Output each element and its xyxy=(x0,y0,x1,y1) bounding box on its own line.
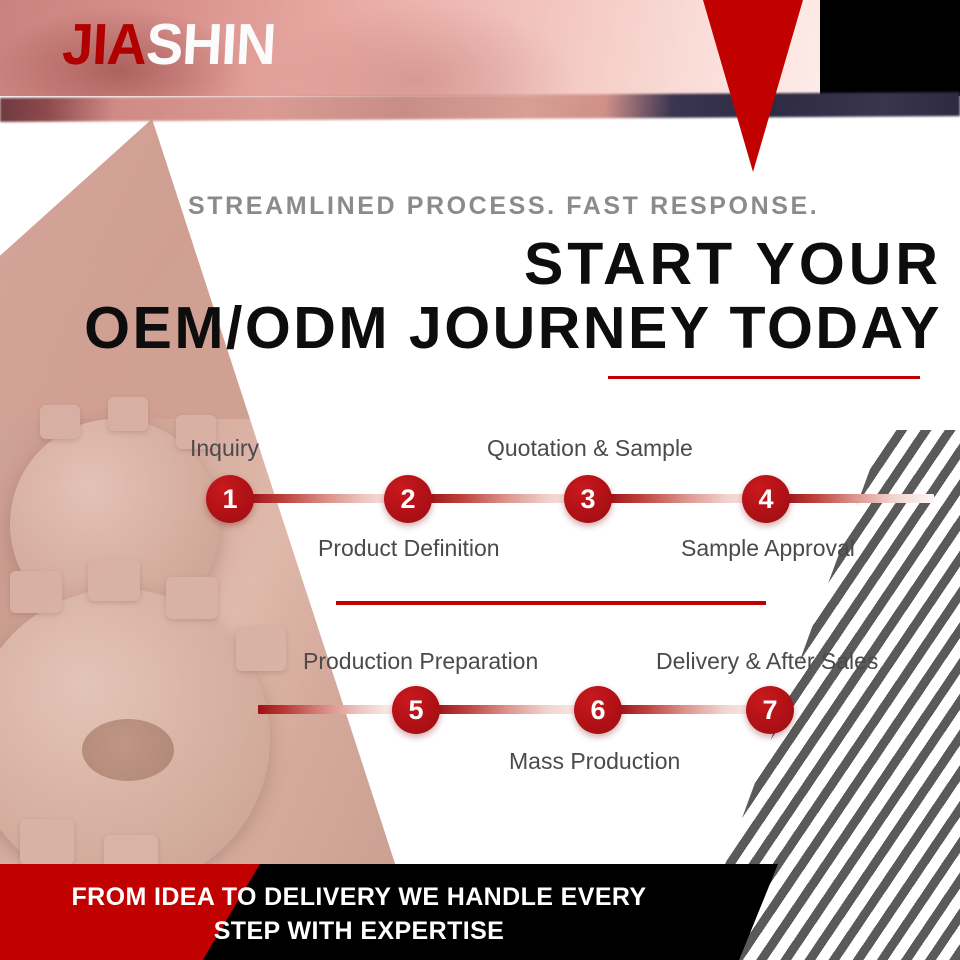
footer-tagline: FROM IDEA TO DELIVERY WE HANDLE EVERY ST… xyxy=(0,880,718,948)
timeline-label-4: Sample Approval xyxy=(681,535,855,562)
footer-line-2: STEP WITH EXPERTISE xyxy=(0,914,718,948)
footer-line-1: FROM IDEA TO DELIVERY WE HANDLE EVERY xyxy=(71,883,646,911)
header-photo-strip xyxy=(0,92,960,122)
brand-logo: JIASHIN xyxy=(61,14,277,76)
poster-canvas: JIASHIN STREAMLINED PROCESS. FAST RESPON… xyxy=(0,0,960,960)
timeline-node-4[interactable]: 4 xyxy=(742,475,790,523)
timeline-label-6: Mass Production xyxy=(509,748,680,775)
timeline-label-5: Production Preparation xyxy=(303,648,538,675)
page-title: START YOUR OEM/ODM JOURNEY TODAY xyxy=(60,232,942,360)
headline-line-1: START YOUR xyxy=(60,232,942,296)
header-black-block xyxy=(820,0,960,96)
footer-banner: FROM IDEA TO DELIVERY WE HANDLE EVERY ST… xyxy=(0,864,960,960)
headline-line-2: OEM/ODM JOURNEY TODAY xyxy=(60,296,942,360)
footer-stripes-decoration xyxy=(760,864,960,960)
logo-text-primary: JIA xyxy=(61,12,148,77)
timeline-node-2[interactable]: 2 xyxy=(384,475,432,523)
timeline-label-3: Quotation & Sample xyxy=(487,435,693,462)
timeline-connector xyxy=(606,494,774,503)
headline-underline xyxy=(608,376,920,379)
timeline-node-3[interactable]: 3 xyxy=(564,475,612,523)
timeline-label-2: Product Definition xyxy=(318,535,500,562)
timeline-node-6[interactable]: 6 xyxy=(574,686,622,734)
logo-text-secondary: SHIN xyxy=(145,12,278,77)
eyebrow-text: STREAMLINED PROCESS. FAST RESPONSE. xyxy=(188,192,948,221)
timeline-connector xyxy=(434,705,590,714)
timeline-connector xyxy=(426,494,596,503)
timeline-connector xyxy=(616,705,764,714)
section-divider xyxy=(336,601,766,605)
timeline-node-5[interactable]: 5 xyxy=(392,686,440,734)
red-triangle-icon xyxy=(703,0,803,172)
